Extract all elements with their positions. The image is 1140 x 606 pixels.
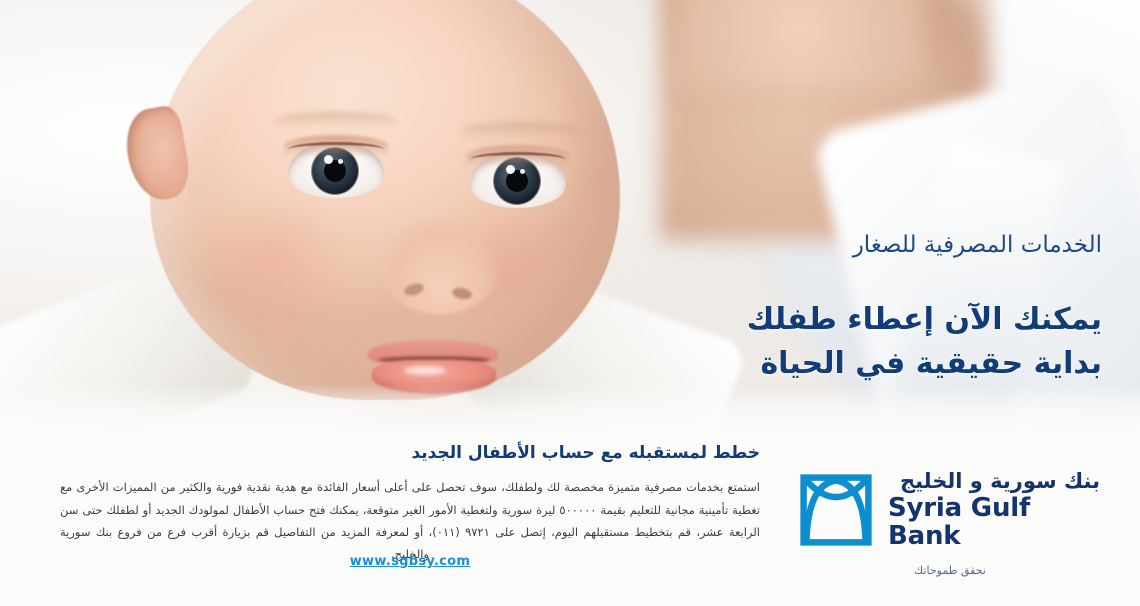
baby-lip-highlight [404,366,446,375]
baby-cheek-left [196,196,346,326]
baby-eye-left [288,142,384,198]
baby-eyebrow-left [276,112,396,128]
body-paragraph: استمتع بخدمات مصرفية متميزة مخصصة لك ولط… [60,476,760,566]
website-link[interactable]: www.sgbsy.com [60,554,760,569]
bank-name-english: Syria Gulf Bank [888,494,1100,550]
eye-lashline [470,152,566,167]
headline: يمكنك الآن إعطاء طفلك بداية حقيقية في ال… [747,298,1102,385]
logo-row: بنك سورية و الخليج Syria Gulf Bank [800,470,1100,550]
baby-nose [382,218,498,314]
logo-tagline: نحقق طموحاتك [800,564,1100,577]
kicker-text: الخدمات المصرفية للصغار [853,232,1102,258]
baby-eye-right [470,152,566,208]
eye-lashline [288,142,384,157]
sub-headline: خطط لمستقبله مع حساب الأطفال الجديد [60,442,760,464]
logo-wordmark: بنك سورية و الخليج Syria Gulf Bank [888,470,1100,550]
arch-mark-icon [800,474,872,546]
copy-block: خطط لمستقبله مع حساب الأطفال الجديد استم… [60,442,760,566]
bottom-panel: خطط لمستقبله مع حساب الأطفال الجديد استم… [0,436,1140,606]
baby-portrait [0,0,760,436]
photo-bottom-fade [0,384,1140,436]
bank-name-arabic: بنك سورية و الخليج [888,470,1100,494]
headline-line-2: بداية حقيقية في الحياة [747,342,1102,386]
headline-line-1: يمكنك الآن إعطاء طفلك [747,298,1102,342]
advertisement-banner: الخدمات المصرفية للصغار يمكنك الآن إعطاء… [0,0,1140,606]
bank-logo[interactable]: بنك سورية و الخليج Syria Gulf Bank نحقق … [800,470,1100,577]
baby-eyebrow-right [462,122,582,138]
